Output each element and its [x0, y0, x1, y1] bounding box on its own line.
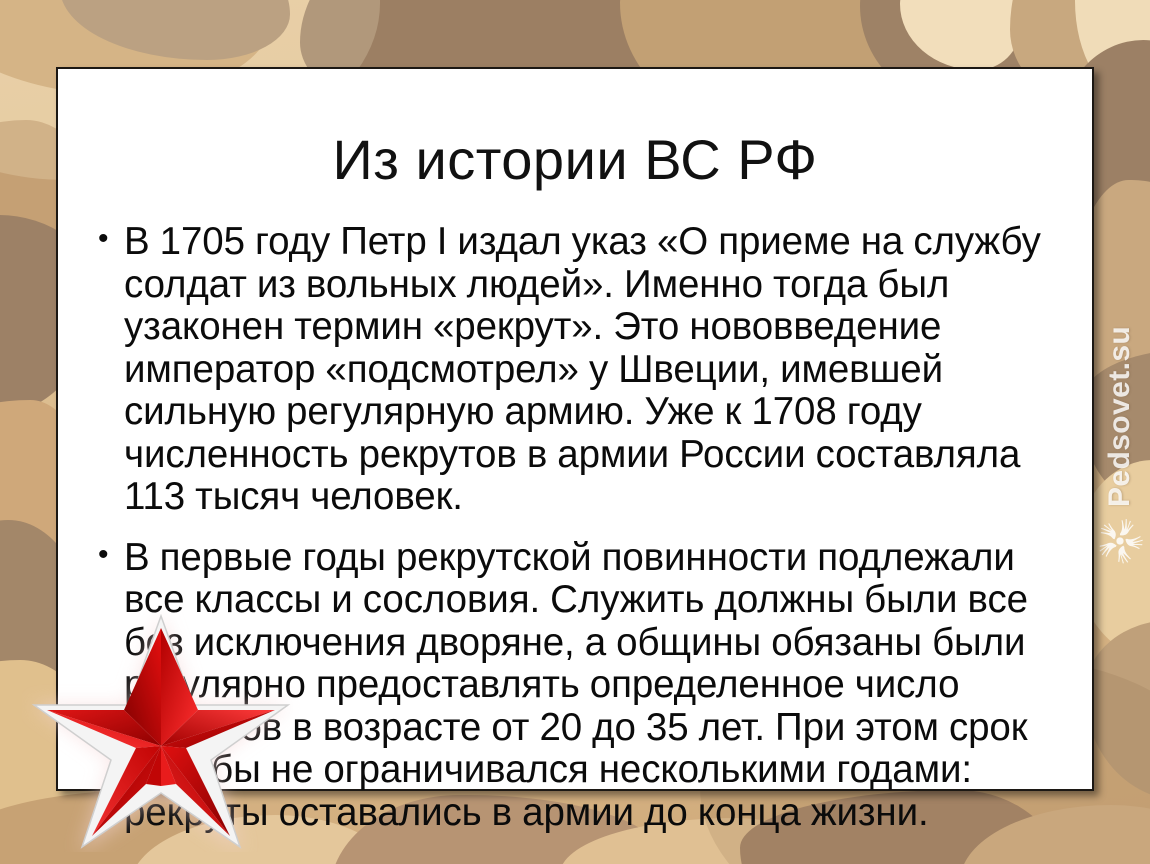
- page-title: Из истории ВС РФ: [58, 131, 1092, 190]
- content-panel: Из истории ВС РФ В 1705 году Петр I изда…: [56, 67, 1094, 791]
- slide-canvas: Pedsovet.su: [0, 0, 1150, 864]
- list-item: В 1705 году Петр I издал указ «О приеме …: [96, 221, 1056, 519]
- list-item: В первые годы рекрутской повинности подл…: [96, 537, 1056, 835]
- bullet-list: В 1705 году Петр I издал указ «О приеме …: [96, 221, 1056, 834]
